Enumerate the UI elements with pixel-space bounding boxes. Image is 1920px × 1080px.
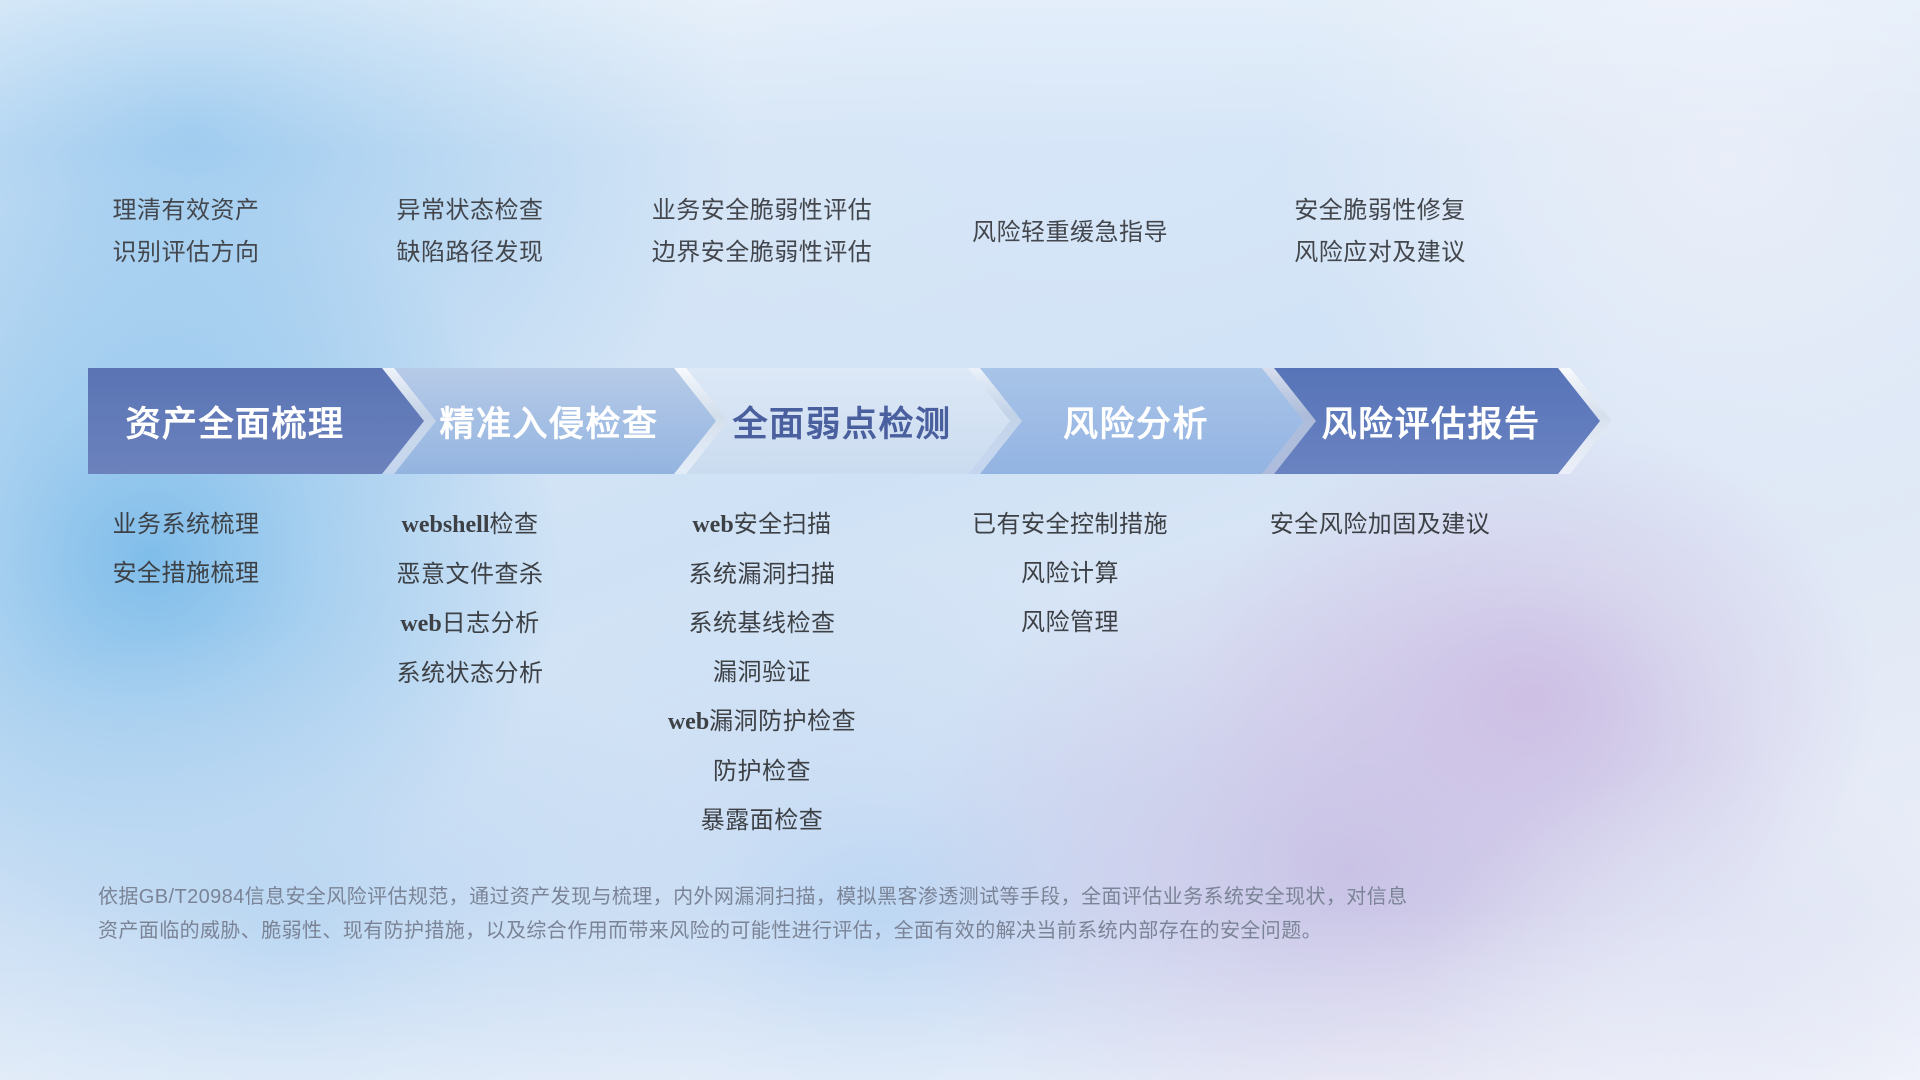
stage-arrow-4-label: 风险分析 xyxy=(1063,396,1209,447)
activity-item-cjk: 安全措施梳理 xyxy=(113,560,260,587)
footer-description-line-2: 资产面临的威胁、脆弱性、现有防护措施，以及综合作用而带来风险的可能性进行评估，全… xyxy=(98,914,1528,948)
stage-arrow-5-label: 风险评估报告 xyxy=(1321,396,1540,447)
footer-description: 依据GB/T20984信息安全风险评估规范，通过资产发现与梳理，内外网漏洞扫描，… xyxy=(98,880,1528,948)
activity-item-cjk: 系统状态分析 xyxy=(397,660,544,687)
footer-description-line-1: 依据GB/T20984信息安全风险评估规范，通过资产发现与梳理，内外网漏洞扫描，… xyxy=(98,880,1528,914)
activity-item-cjk: 系统基线检查 xyxy=(689,610,836,637)
activity-item: web漏洞防护检查 xyxy=(532,697,992,747)
activity-item-cjk: 安全扫描 xyxy=(734,511,832,538)
top-outcome-item: 安全脆弱性修复 xyxy=(1170,190,1590,232)
activity-item-cjk: 漏洞防护检查 xyxy=(709,708,856,735)
activity-item: 风险管理 xyxy=(840,598,1300,647)
activity-item-cjk: 安全风险加固及建议 xyxy=(1270,511,1491,538)
top-outcomes-row: 理清有效资产识别评估方向 异常状态检查缺陷路径发现 业务安全脆弱性评估边界安全脆… xyxy=(0,0,1920,300)
activity-item: 安全风险加固及建议 xyxy=(1150,500,1610,549)
activity-item-latin: web xyxy=(692,512,733,538)
activity-item-cjk: 防护检查 xyxy=(713,758,811,785)
stage-arrow-5[interactable]: 风险评估报告 xyxy=(1304,368,1558,474)
stage-arrow-3[interactable]: 全面弱点检测 xyxy=(716,368,968,474)
process-arrow-band: 资产全面梳理 精准入侵检查 全面弱点检测 风险分析 风险评估报告 xyxy=(0,368,1920,474)
activity-item-cjk: 风险管理 xyxy=(1021,609,1119,636)
activity-item: 防护检查 xyxy=(532,747,992,796)
top-outcomes-stage-5: 安全脆弱性修复风险应对及建议 xyxy=(1170,190,1590,274)
activity-item: 风险计算 xyxy=(840,549,1300,598)
stage-arrow-3-label: 全面弱点检测 xyxy=(732,396,951,447)
stage-arrow-2[interactable]: 精准入侵检查 xyxy=(424,368,674,474)
stage-arrow-1[interactable]: 资产全面梳理 xyxy=(88,368,382,474)
activity-item: 漏洞验证 xyxy=(532,648,992,697)
activity-item-latin: web xyxy=(400,611,441,637)
activity-item-cjk: 日志分析 xyxy=(442,610,540,637)
stage-arrow-2-label: 精准入侵检查 xyxy=(439,396,658,447)
activity-item-cjk: 暴露面检查 xyxy=(701,807,824,834)
stage-arrow-4[interactable]: 风险分析 xyxy=(1010,368,1262,474)
activity-item-latin: webshell xyxy=(401,512,489,538)
activity-item: 暴露面检查 xyxy=(532,796,992,845)
activity-item-cjk: 漏洞验证 xyxy=(713,659,811,686)
activity-item-cjk: 业务系统梳理 xyxy=(113,511,260,538)
activity-item-cjk: 恶意文件查杀 xyxy=(397,561,544,588)
stage-arrow-1-label: 资产全面梳理 xyxy=(125,396,344,447)
activity-item-cjk: 系统漏洞扫描 xyxy=(689,561,836,588)
top-outcome-item: 风险应对及建议 xyxy=(1170,232,1590,274)
activity-item-latin: web xyxy=(668,709,709,735)
activities-stage-5: 安全风险加固及建议 xyxy=(1150,500,1610,549)
activity-item-cjk: 已有安全控制措施 xyxy=(972,511,1168,538)
activity-item-cjk: 风险计算 xyxy=(1021,560,1119,587)
